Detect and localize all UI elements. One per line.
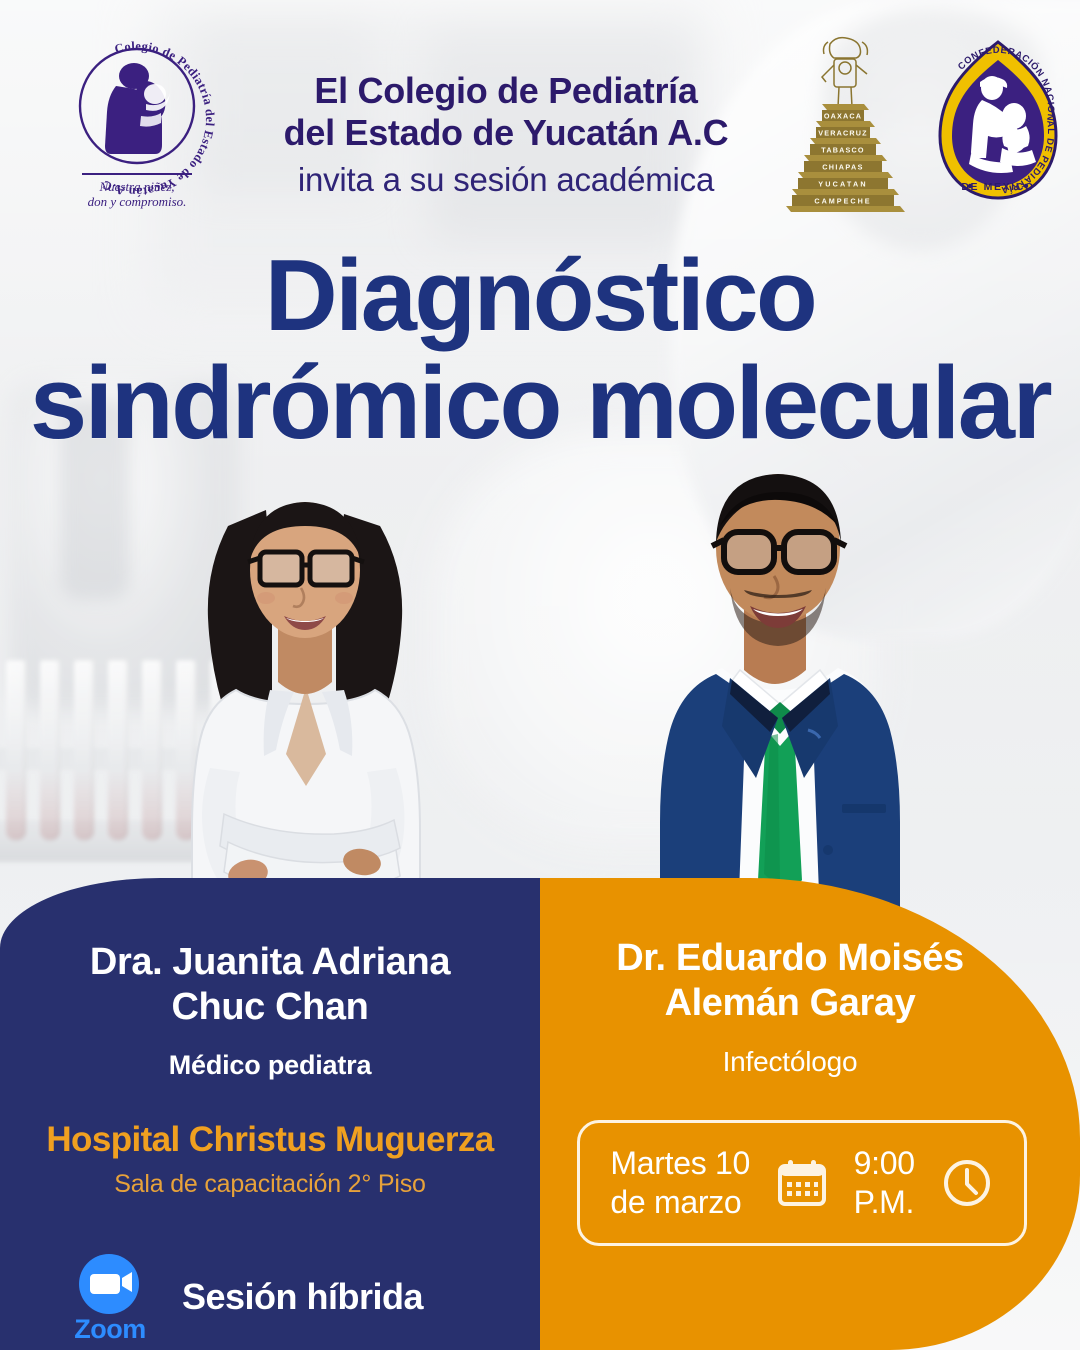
speaker-right-name-line1: Dr. Eduardo Moisés bbox=[616, 937, 964, 979]
speaker-right-name-line2: Alemán Garay bbox=[665, 982, 916, 1024]
event-date: Martes 10 de marzo bbox=[610, 1144, 750, 1222]
event-time-line2: P.M. bbox=[854, 1184, 914, 1220]
zoom-session-row: Zoom Sesión híbrida bbox=[60, 1250, 490, 1346]
event-time: 9:00 P.M. bbox=[854, 1144, 915, 1222]
speaker-right-role: Infectólogo bbox=[540, 1046, 1040, 1078]
event-date-line1: Martes 10 bbox=[610, 1145, 750, 1181]
zoom-icon[interactable]: Zoom bbox=[60, 1250, 168, 1346]
speaker-right-photo bbox=[570, 430, 990, 920]
zoom-wordmark: Zoom bbox=[74, 1314, 146, 1344]
speaker-right-panel: Dr. Eduardo Moisés Alemán Garay Infectól… bbox=[540, 878, 1080, 1350]
event-time-line1: 9:00 bbox=[854, 1145, 915, 1181]
speaker-right-name: Dr. Eduardo Moisés Alemán Garay bbox=[540, 936, 1040, 1026]
speaker-left-name-line1: Dra. Juanita Adriana bbox=[90, 941, 450, 983]
event-poster: Colegio de Pediatría del Estado de Yucat… bbox=[0, 0, 1080, 1350]
event-date-line2: de marzo bbox=[610, 1184, 741, 1220]
orange-panel-shape: Dr. Eduardo Moisés Alemán Garay Infectól… bbox=[540, 878, 1080, 1350]
venue-name: Hospital Christus Muguerza bbox=[0, 1120, 540, 1160]
session-mode-label: Sesión híbrida bbox=[182, 1276, 423, 1318]
clock-icon bbox=[940, 1156, 994, 1210]
venue-room: Sala de capacitación 2° Piso bbox=[0, 1170, 540, 1199]
speaker-left-name: Dra. Juanita Adriana Chuc Chan bbox=[0, 940, 540, 1030]
datetime-box: Martes 10 de marzo 9:00 bbox=[577, 1120, 1027, 1246]
speaker-left-photo bbox=[118, 438, 488, 908]
speaker-left-name-line2: Chuc Chan bbox=[172, 986, 369, 1028]
speaker-left-role: Médico pediatra bbox=[0, 1050, 540, 1081]
calendar-icon bbox=[775, 1156, 829, 1210]
speaker-left-panel: Dra. Juanita Adriana Chuc Chan Médico pe… bbox=[0, 878, 540, 1350]
